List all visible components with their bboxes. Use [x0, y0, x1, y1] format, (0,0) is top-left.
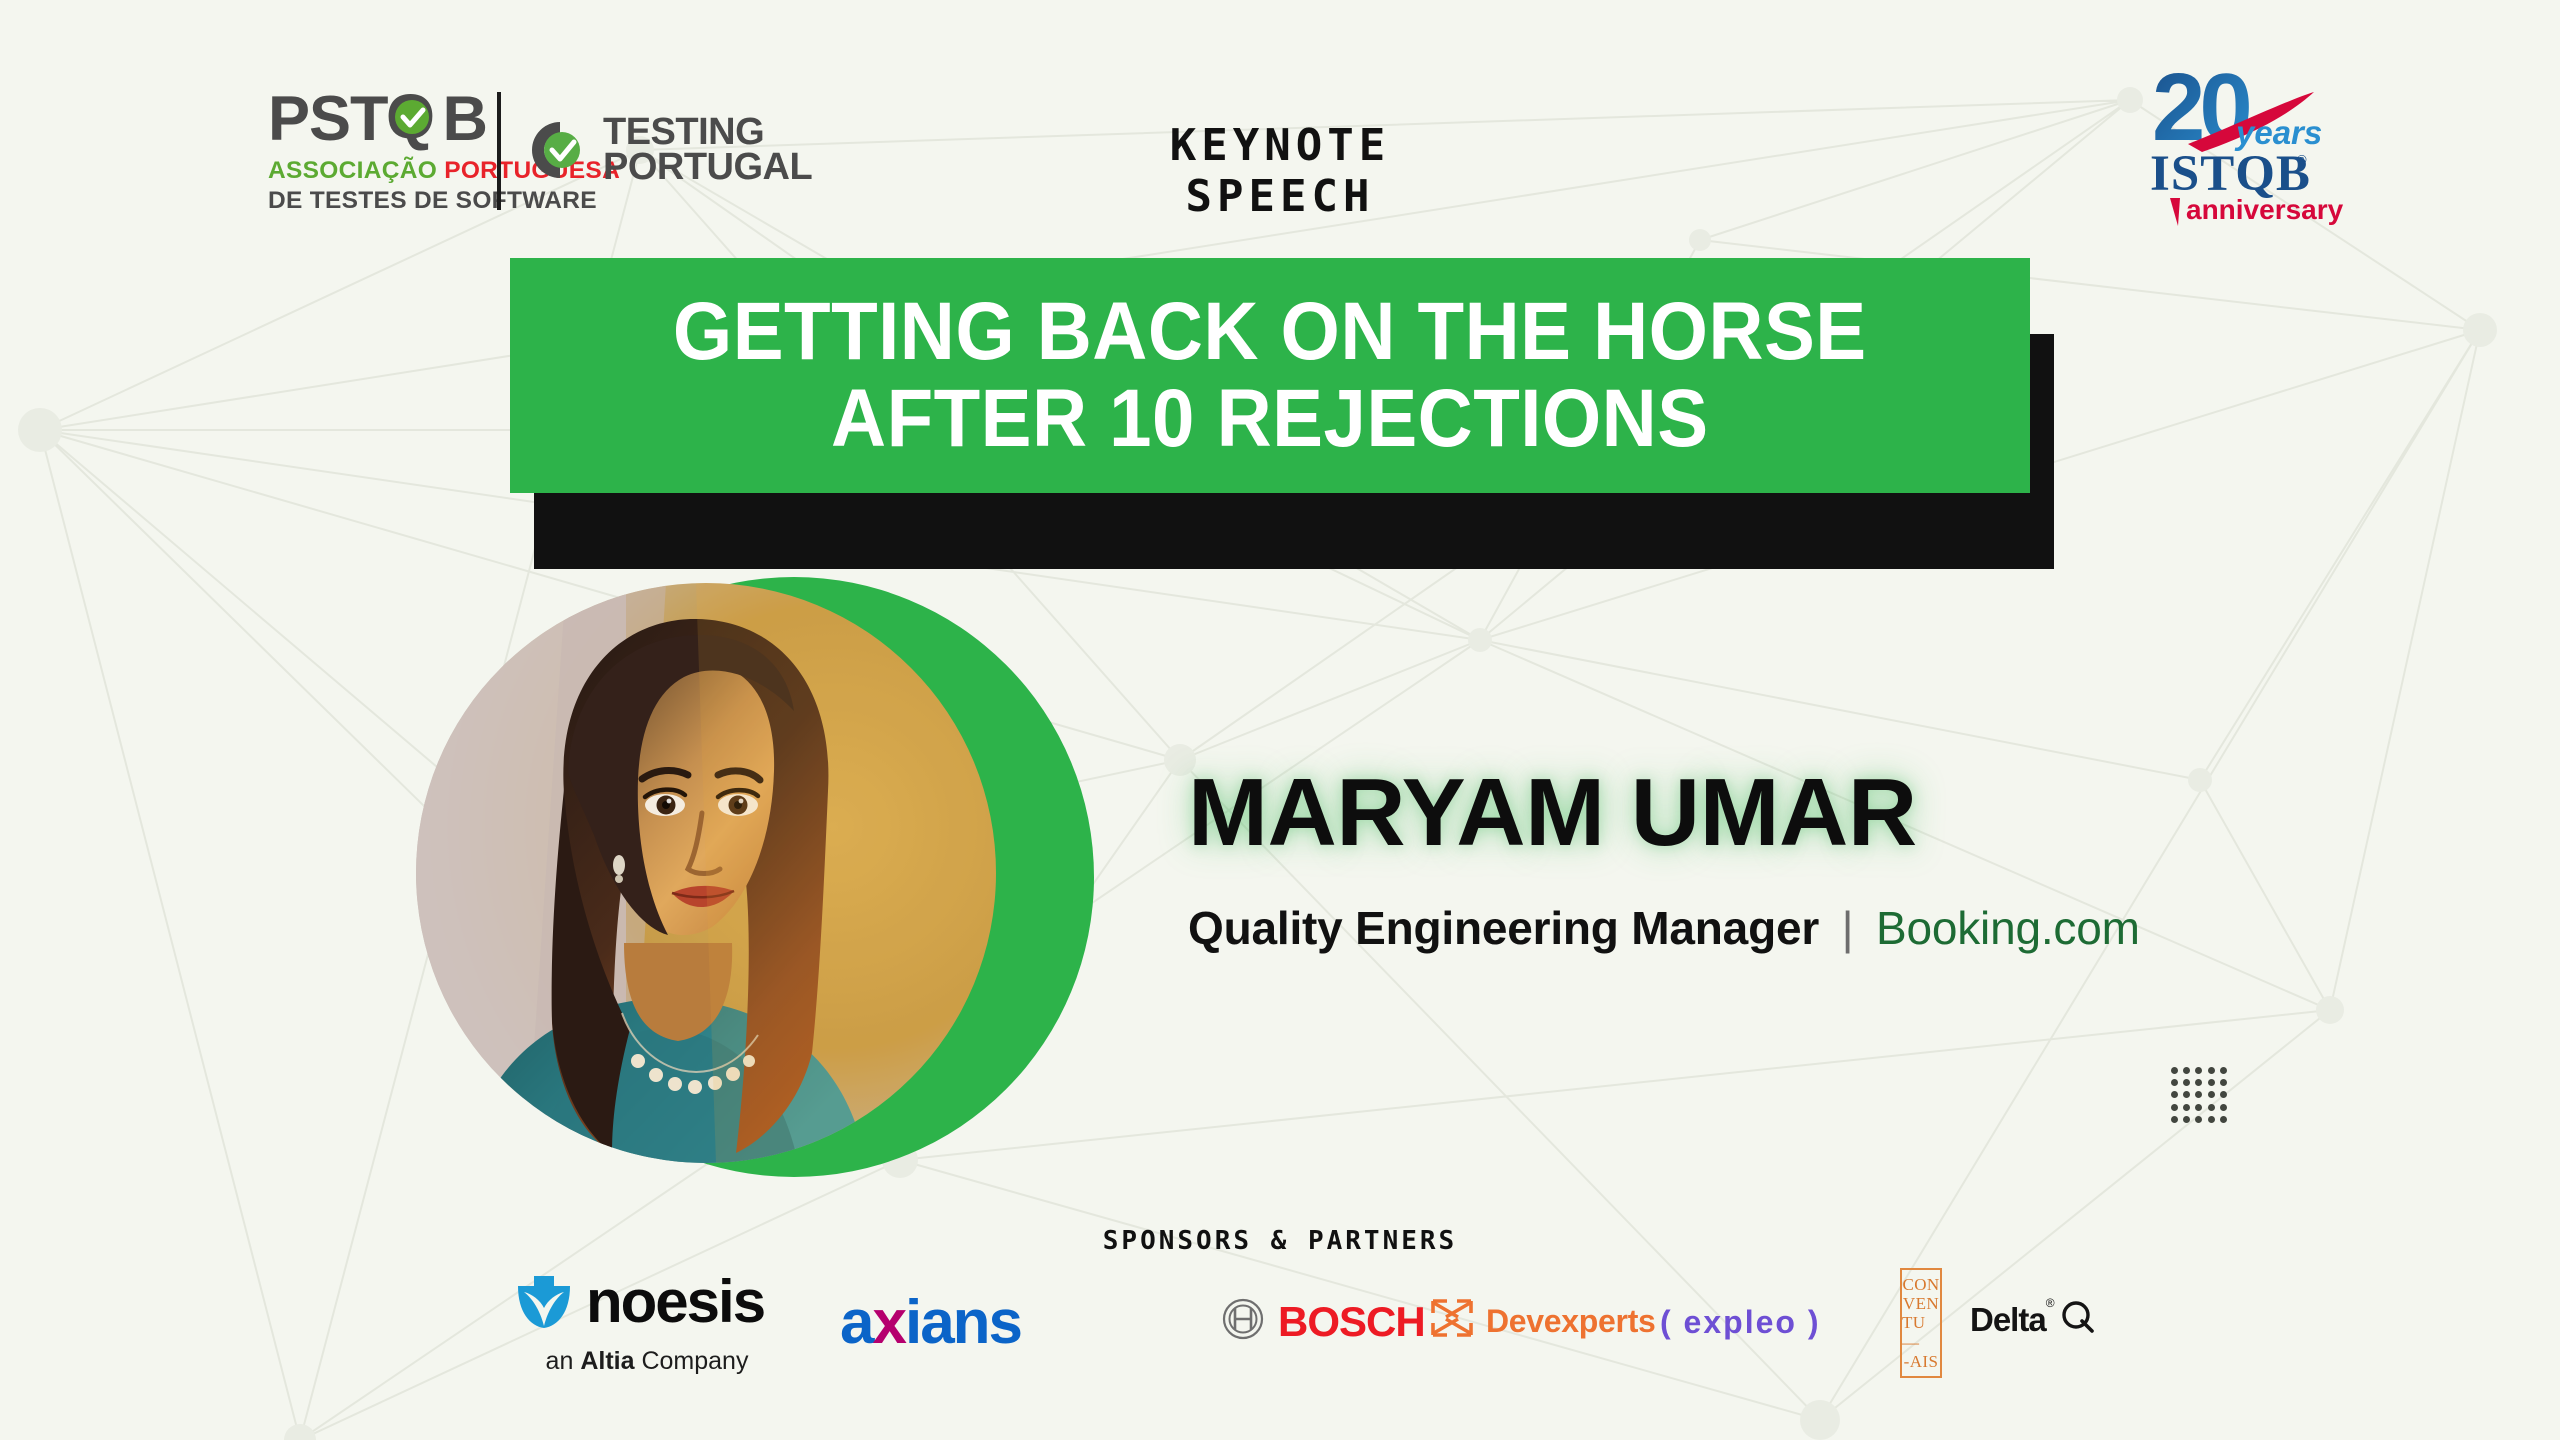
dot — [2195, 1116, 2202, 1123]
dot — [2183, 1091, 2190, 1098]
noesis-flower-icon — [512, 1268, 576, 1335]
deltaq-wordmark: Delta® — [1970, 1303, 2054, 1336]
dot — [2208, 1116, 2215, 1123]
speaker-role-line: Quality Engineering Manager | Booking.co… — [1188, 901, 2140, 955]
speaker-photo-block — [416, 565, 1036, 1185]
pstqb-subtitle-line2: DE TESTES DE SOFTWARE — [268, 187, 620, 215]
speaker-job-title: Quality Engineering Manager — [1188, 902, 1819, 954]
bosch-wordmark: BOSCH — [1278, 1301, 1425, 1343]
noesis-tagline: an Altia Company — [512, 1347, 782, 1376]
sponsor-logo-delta-q: Delta® — [1970, 1300, 2095, 1339]
devexperts-wordmark: Devexperts — [1486, 1305, 1656, 1337]
speaker-name: MARYAM UMAR — [1188, 765, 2140, 861]
title-banner: GETTING BACK ON THE HORSE AFTER 10 REJEC… — [510, 258, 2030, 493]
dot — [2208, 1091, 2215, 1098]
speaker-role-separator: | — [1832, 902, 1864, 954]
testing-portugal-wordmark: TESTING PORTUGAL — [603, 115, 812, 185]
conventuais-line1: CON — [1902, 1275, 1939, 1294]
deltaq-q-icon — [2061, 1300, 2095, 1339]
dot — [2220, 1067, 2227, 1074]
testing-portugal-line2: PORTUGAL — [603, 146, 812, 188]
dot — [2220, 1116, 2227, 1123]
noesis-tagline-altia: Altia — [580, 1347, 634, 1375]
istqb-20-years-anniversary-logo: 20 years ISTQB ® anniversary — [2128, 52, 2343, 227]
speaker-info: MARYAM UMAR Quality Engineering Manager … — [1188, 765, 2140, 955]
pstqb-wordmark-b: B — [443, 88, 488, 151]
dot — [2208, 1067, 2215, 1074]
sponsor-logo-conventuais: CON VEN TU— -AIS — [1900, 1268, 1942, 1378]
sponsor-logo-axians: axians — [840, 1292, 1021, 1354]
axians-part-ians: ians — [905, 1288, 1021, 1357]
deltaq-registered: ® — [2046, 1296, 2054, 1310]
dot — [2171, 1116, 2178, 1123]
axians-part-a: a — [840, 1288, 872, 1357]
pstqb-check-q-icon: Q — [388, 88, 443, 151]
dot — [2195, 1091, 2202, 1098]
conventuais-line4: -AIS — [1904, 1352, 1939, 1371]
kicker-label: KEYNOTE SPEECH — [1060, 120, 1500, 222]
sponsors-title: SPONSORS & PARTNERS — [1060, 1226, 1500, 1256]
pstqb-subtitle-associacao: ASSOCIAÇÃO — [268, 157, 437, 184]
dot — [2195, 1067, 2202, 1074]
svg-text:®: ® — [2297, 152, 2307, 167]
speaker-company: Booking.com — [1876, 902, 2140, 954]
axians-part-x: x — [872, 1288, 904, 1357]
testing-portugal-check-icon — [528, 118, 592, 182]
dot — [2183, 1116, 2190, 1123]
title-line-1: GETTING BACK ON THE HORSE — [673, 289, 1867, 376]
testing-portugal-logo: TESTING PORTUGAL — [528, 115, 812, 185]
noesis-tagline-post: Company — [635, 1347, 749, 1375]
sponsors-logo-row: noesis an Altia Company axians BOSCH — [0, 1256, 2560, 1386]
pstqb-wordmark-pst: PST — [268, 88, 388, 151]
dot — [2220, 1091, 2227, 1098]
dot — [2171, 1067, 2178, 1074]
noesis-wordmark: noesis — [586, 1272, 764, 1332]
noesis-lockup: noesis — [512, 1268, 792, 1335]
dot — [2195, 1079, 2202, 1086]
dot — [2171, 1104, 2178, 1111]
title-banner-fill: GETTING BACK ON THE HORSE AFTER 10 REJEC… — [510, 258, 2030, 493]
noesis-tagline-pre: an — [546, 1347, 581, 1375]
dot — [2220, 1104, 2227, 1111]
dot — [2208, 1104, 2215, 1111]
conventuais-line2: VEN — [1903, 1294, 1939, 1313]
dot-grid-decoration — [2168, 1064, 2230, 1126]
dot — [2183, 1104, 2190, 1111]
dot — [2220, 1079, 2227, 1086]
sponsor-logo-devexperts: Devexperts — [1430, 1298, 1656, 1343]
sponsor-logo-noesis: noesis an Altia Company — [512, 1268, 792, 1376]
slide-canvas: PST Q B ASSOCIAÇÃO PORTUGUESA DE TESTES … — [0, 0, 2560, 1440]
devexperts-arrows-icon — [1430, 1298, 1474, 1343]
dot — [2171, 1079, 2178, 1086]
conventuais-line3: TU— — [1902, 1313, 1940, 1351]
dot — [2208, 1079, 2215, 1086]
title-line-2: AFTER 10 REJECTIONS — [831, 376, 1709, 463]
dot — [2183, 1067, 2190, 1074]
dot — [2183, 1079, 2190, 1086]
speaker-avatar — [416, 583, 996, 1163]
dot — [2171, 1091, 2178, 1098]
bosch-armature-icon — [1222, 1298, 1264, 1345]
deltaq-word-delta: Delta — [1970, 1301, 2046, 1338]
sponsor-logo-bosch: BOSCH — [1222, 1298, 1425, 1345]
sponsor-logo-expleo: ( expleo ) — [1660, 1306, 1820, 1338]
svg-text:anniversary: anniversary — [2186, 194, 2343, 225]
dot — [2195, 1104, 2202, 1111]
header-divider — [497, 92, 501, 210]
